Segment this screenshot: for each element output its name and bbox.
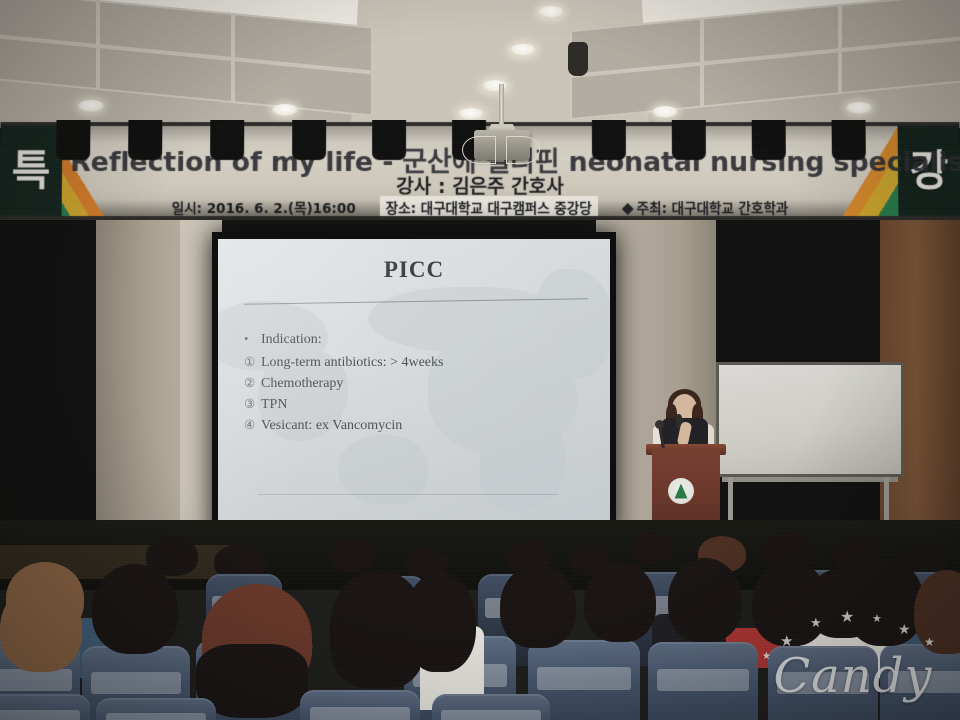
slide-title: PICC (218, 257, 610, 283)
ceiling-downlight (652, 106, 678, 118)
audience-head (752, 560, 828, 646)
audience-area (0, 518, 960, 720)
projector-safety-wire (462, 136, 496, 164)
ceiling-downlight (846, 102, 872, 114)
whiteboard (716, 362, 904, 477)
auditorium-seat (432, 694, 550, 720)
podium-mic-head (655, 420, 664, 429)
audience-head (92, 564, 178, 654)
audience-head (330, 538, 376, 572)
slide-item-text: TPN (261, 397, 287, 412)
banner-clamp (592, 120, 626, 160)
ceiling-downlight (78, 100, 104, 112)
audience-head (0, 584, 82, 672)
auditorium-seat (300, 690, 420, 720)
auditorium-seat (0, 694, 90, 720)
banner-clamp (210, 120, 244, 160)
slide-lead-text: Indication: (261, 332, 322, 347)
ceiling-speaker-icon (568, 42, 588, 76)
slide-item-text: Long-term antibiotics: > 4weeks (261, 355, 443, 370)
audience-head (632, 532, 674, 564)
auditorium-seat (96, 698, 216, 720)
projector-safety-wire (506, 136, 540, 164)
slide-item-text: Chemotherapy (261, 376, 343, 391)
slide-list-item: ②Chemotherapy (244, 373, 594, 394)
slide-footer-rule (258, 494, 558, 495)
lecture-hall-photo: 특 강 Reflection of my life - 군산에 필리핀 neon… (0, 0, 960, 720)
banner-clamp (372, 120, 406, 160)
slide-list-item: ①Long-term antibiotics: > 4weeks (244, 352, 594, 373)
whiteboard-surface (719, 365, 901, 474)
audience-head (404, 572, 476, 672)
slide-item-text: Vesicant: ex Vancomycin (261, 418, 402, 433)
banner-host: 주최: 대구대학교 간호학과 (622, 197, 789, 216)
banner-meta-row: 일시: 2016. 6. 2.(목)16:00 장소: 대구대학교 대구캠퍼스 … (0, 196, 960, 216)
ceiling-downlight (458, 108, 484, 120)
projection-screen: PICC •Indication: ①Long-term antibiotics… (212, 232, 616, 540)
audience-head (668, 558, 742, 642)
banner-clamp (672, 120, 706, 160)
bullet-dot-icon: • (244, 329, 261, 350)
circled-number-icon: ④ (244, 415, 261, 436)
diamond-emblem-icon (622, 203, 634, 215)
banner-host-label: 주최: 대구대학교 간호학과 (637, 201, 789, 216)
audience-head (500, 564, 576, 648)
presentation-slide: PICC •Indication: ①Long-term antibiotics… (218, 239, 610, 531)
auditorium-seat (880, 644, 960, 720)
ceiling-downlight (482, 80, 508, 92)
auditorium-seat (648, 642, 758, 720)
slide-list-item: ③TPN (244, 394, 594, 415)
banner-clamp (56, 120, 90, 160)
banner-clamp (752, 120, 786, 160)
circled-number-icon: ② (244, 373, 261, 394)
circled-number-icon: ③ (244, 394, 261, 415)
slide-list-item: ④Vesicant: ex Vancomycin (244, 415, 594, 436)
ceiling-downlight (510, 44, 536, 56)
banner-clamp (292, 120, 326, 160)
banner-clamp (832, 120, 866, 160)
circled-number-icon: ① (244, 352, 261, 373)
banner-place: 장소: 대구대학교 대구캠퍼스 중강당 (380, 196, 598, 216)
audience-head (846, 558, 924, 646)
ceiling (0, 0, 960, 135)
audience-head (584, 562, 656, 642)
whiteboard-tray (722, 477, 898, 482)
ceiling-downlight (538, 6, 564, 18)
ceiling-downlight (272, 104, 298, 116)
banner-speaker-line: 강사 : 김은주 간호사 (0, 172, 960, 199)
banner-datetime: 일시: 2016. 6. 2.(목)16:00 (172, 197, 356, 216)
auditorium-seat (768, 646, 878, 720)
university-tree-emblem-icon (668, 478, 694, 504)
slide-body: •Indication: ①Long-term antibiotics: > 4… (244, 329, 594, 436)
slide-lead-bullet: •Indication: (244, 329, 594, 350)
banner-clamp (128, 120, 162, 160)
